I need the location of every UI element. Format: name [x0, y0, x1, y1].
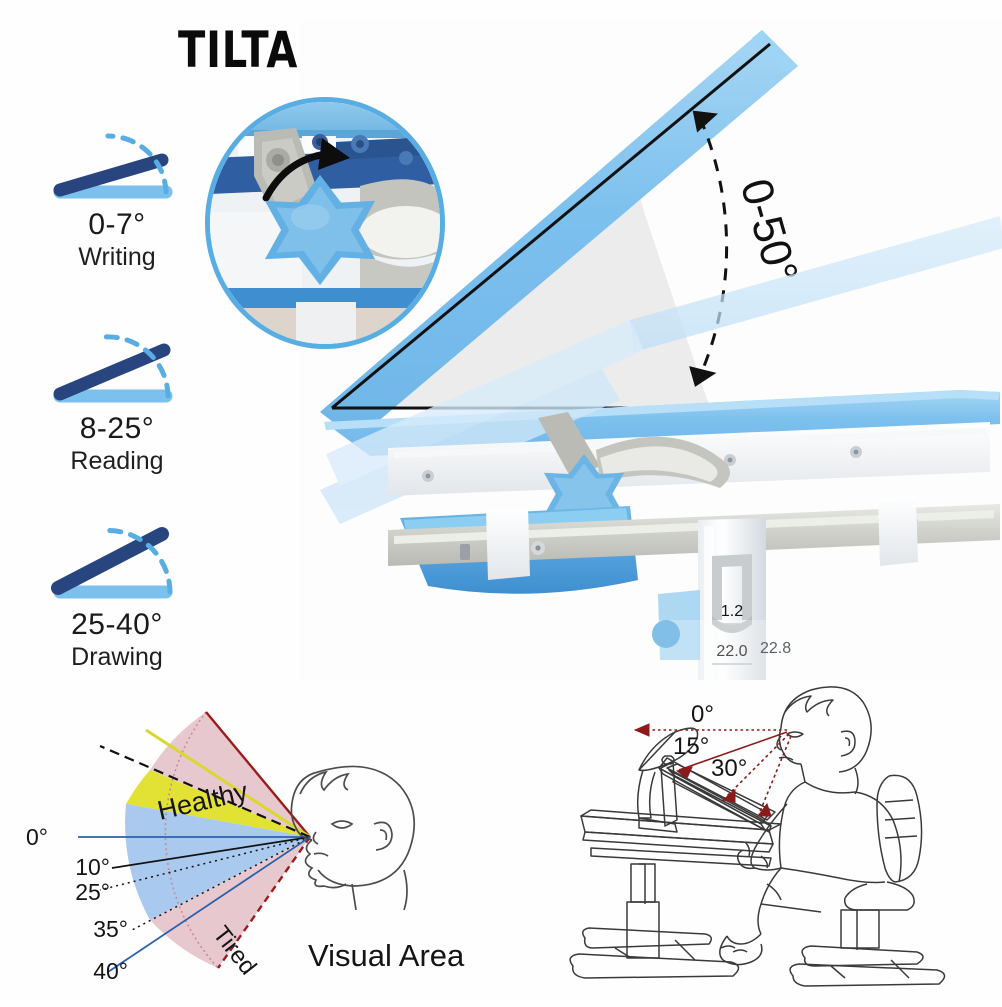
sightline-15-arrow	[677, 767, 692, 778]
visual-tick-25: 25°	[75, 879, 110, 905]
angle-label: Writing	[22, 243, 212, 272]
visual-tick-40: 40°	[93, 958, 128, 984]
angle-label: Reading	[22, 447, 212, 476]
chair-foot	[790, 964, 944, 986]
knob-closeup-inset	[205, 97, 445, 349]
desk-foot	[570, 954, 738, 978]
knob-closeup-photo	[210, 102, 442, 346]
figure-thigh	[781, 868, 885, 883]
figure-ear	[841, 731, 855, 756]
ergonomic-angle-30: 30°	[711, 755, 747, 782]
angle-value: 0-7°	[22, 208, 212, 242]
tilt-angle-low-icon	[38, 96, 188, 206]
angle-value: 25-40°	[22, 608, 212, 642]
figure-torso-front	[779, 782, 805, 868]
visual-tick-35: 35°	[93, 916, 128, 942]
angle-value: 8-25°	[22, 412, 212, 446]
chair-seat	[845, 882, 914, 910]
visual-area-diagram: 0° 10° 25° 35° 40° Healthy Tired	[0, 672, 500, 1002]
height-scale-value-0: 1.2	[721, 603, 743, 620]
ergonomic-angle-15: 15°	[673, 733, 709, 760]
visual-tick-10: 10°	[75, 854, 110, 880]
sightline-0-arrow	[635, 724, 649, 736]
height-scale-value-2: 22.8	[760, 640, 791, 658]
ergonomics-diagram: 0° 15° 30°	[555, 672, 1002, 1002]
angle-mode-card-drawing: 25-40° Drawing	[22, 496, 212, 672]
chair-back	[889, 775, 922, 882]
ergonomic-angle-0: 0°	[691, 701, 714, 728]
infographic-page: TILTABLE DESKTOP 0-7° Writing 8-25° Read…	[0, 0, 1002, 1002]
tilt-angle-high-icon	[38, 496, 188, 606]
angle-label: Drawing	[22, 643, 212, 672]
angle-mode-card-reading: 8-25° Reading	[22, 300, 212, 476]
figure-head	[781, 687, 871, 772]
rail-clamp-right	[878, 496, 918, 566]
visual-tick-0: 0°	[26, 824, 48, 850]
angle-mode-card-writing: 0-7° Writing	[22, 96, 212, 272]
chair-column	[841, 910, 879, 948]
tilt-angle-mid-icon	[38, 300, 188, 410]
rail-clamp-left	[486, 508, 530, 580]
figure-hair	[785, 696, 833, 716]
visual-area-caption: Visual Area	[308, 938, 465, 973]
